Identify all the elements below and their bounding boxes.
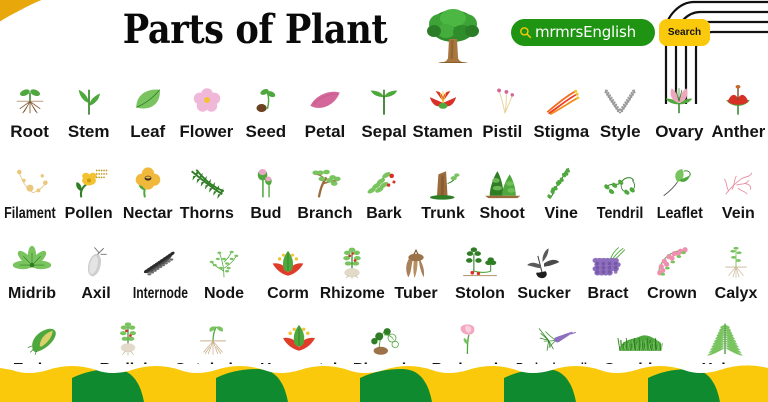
term-label: Pollen xyxy=(65,206,113,222)
trunk-illustration xyxy=(420,161,466,203)
term-label: Midrib xyxy=(8,286,56,302)
tendril-illustration xyxy=(597,161,643,203)
term-label: Leaf xyxy=(130,123,165,140)
petal-illustration xyxy=(303,80,347,120)
poster-header: Parts of Plant mrmrsEnglish Search xyxy=(0,0,768,64)
term-card-shoot[interactable]: Shoot xyxy=(473,161,532,222)
term-label: Filament xyxy=(4,206,55,222)
radicle-illustration xyxy=(104,317,152,359)
bud-scale-illustration xyxy=(445,317,493,359)
corm-illustration xyxy=(265,241,311,283)
term-card-corm[interactable]: Corm xyxy=(256,241,320,302)
stem-illustration xyxy=(67,80,111,120)
term-card-bud[interactable]: Bud xyxy=(236,161,295,222)
leaf-illustration xyxy=(126,80,170,120)
term-label: Stolon xyxy=(455,286,505,302)
seed-illustration xyxy=(244,80,288,120)
shoot-illustration xyxy=(479,161,525,203)
search-input-value: mrmrsEnglish xyxy=(535,25,636,40)
term-card-midrib[interactable]: Midrib xyxy=(0,241,64,302)
term-label: Flower xyxy=(180,123,234,140)
vein-illustration xyxy=(715,161,761,203)
term-card-vine[interactable]: Vine xyxy=(532,161,591,222)
term-label: Thorns xyxy=(180,206,234,222)
term-label: Ovary xyxy=(655,123,703,140)
leaflet-illustration xyxy=(656,161,702,203)
term-card-bark[interactable]: Bark xyxy=(354,161,413,222)
term-label: Tuber xyxy=(394,286,437,302)
term-card-stem[interactable]: Stem xyxy=(59,80,118,140)
term-card-leaf[interactable]: Leaf xyxy=(118,80,177,140)
branch-illustration xyxy=(302,161,348,203)
bract-illustration xyxy=(585,241,631,283)
term-label: Shoot xyxy=(479,206,524,222)
term-card-vein[interactable]: Vein xyxy=(709,161,768,222)
term-card-filament[interactable]: Filament xyxy=(0,161,59,222)
term-card-nectar[interactable]: Nectar xyxy=(118,161,177,222)
anther-illustration xyxy=(716,80,760,120)
cotyledon-illustration xyxy=(189,317,237,359)
term-card-anther[interactable]: Anther xyxy=(709,80,768,140)
tree-icon xyxy=(422,6,484,64)
term-label: Seed xyxy=(246,123,287,140)
stigma-illustration xyxy=(539,80,583,120)
term-label: Bark xyxy=(366,206,402,222)
term-card-flower[interactable]: Flower xyxy=(177,80,236,140)
rhizome-illustration xyxy=(329,241,375,283)
term-card-calyx[interactable]: Calyx xyxy=(704,241,768,302)
pistil-illustration xyxy=(480,80,524,120)
filament-illustration xyxy=(7,161,53,203)
axil-illustration xyxy=(73,241,119,283)
term-card-ovary[interactable]: Ovary xyxy=(650,80,709,140)
page-title: Parts of Plant xyxy=(110,2,400,58)
embryo-illustration xyxy=(19,317,67,359)
term-card-pistil[interactable]: Pistil xyxy=(473,80,532,140)
term-label: Axil xyxy=(81,286,110,302)
term-card-stamen[interactable]: Stamen xyxy=(414,80,473,140)
pollen-illustration xyxy=(66,161,112,203)
term-row-3: MidribAxilInternodeNodeCormRhizomeTuberS… xyxy=(0,234,768,302)
term-label: Corm xyxy=(267,286,309,302)
term-card-trunk[interactable]: Trunk xyxy=(414,161,473,222)
midrib-illustration xyxy=(9,241,55,283)
term-card-thorns[interactable]: Thorns xyxy=(177,161,236,222)
term-card-branch[interactable]: Branch xyxy=(295,161,354,222)
internode-illustration xyxy=(137,241,183,283)
term-label: Rhizome xyxy=(320,286,385,302)
node-illustration xyxy=(201,241,247,283)
nectar-illustration xyxy=(125,161,171,203)
term-label: Stamen xyxy=(413,123,473,140)
term-row-2: FilamentPollenNectarThornsBudBranchBarkT… xyxy=(0,154,768,222)
term-card-seed[interactable]: Seed xyxy=(236,80,295,140)
term-label: Nectar xyxy=(123,206,173,222)
stamen-illustration xyxy=(421,80,465,120)
term-label: Vine xyxy=(544,206,578,222)
term-label: Stem xyxy=(68,123,110,140)
term-row-1: RootStemLeafFlowerSeedPetalSepalStamenPi… xyxy=(0,74,768,140)
term-label: Sepal xyxy=(361,123,406,140)
term-card-rhizome[interactable]: Rhizome xyxy=(320,241,384,302)
term-card-node[interactable]: Node xyxy=(192,241,256,302)
cambium-illustration xyxy=(616,317,664,359)
term-label: Petal xyxy=(305,123,346,140)
ovary-illustration xyxy=(657,80,701,120)
search-button[interactable]: Search xyxy=(659,19,710,46)
term-card-axil[interactable]: Axil xyxy=(64,241,128,302)
tuber-illustration xyxy=(393,241,439,283)
stolon-illustration xyxy=(457,241,503,283)
term-card-stolon[interactable]: Stolon xyxy=(448,241,512,302)
term-label: Vein xyxy=(722,206,755,222)
term-label: Internode xyxy=(132,286,187,302)
bottom-wave-decoration xyxy=(0,364,768,402)
bark-illustration xyxy=(361,161,407,203)
term-label: Anther xyxy=(711,123,765,140)
search-input[interactable]: mrmrsEnglish xyxy=(511,19,655,46)
style-illustration xyxy=(598,80,642,120)
term-label: Stigma xyxy=(533,123,589,140)
term-label: Leaflet xyxy=(656,206,702,222)
crown-illustration xyxy=(649,241,695,283)
search-icon xyxy=(519,26,532,39)
term-card-internode[interactable]: Internode xyxy=(128,241,192,302)
term-label: Bud xyxy=(250,206,281,222)
term-label: Tendril xyxy=(597,206,644,222)
thorns-illustration xyxy=(184,161,230,203)
flower-illustration xyxy=(185,80,229,120)
term-label: Sucker xyxy=(517,286,570,302)
term-card-stigma[interactable]: Stigma xyxy=(532,80,591,140)
term-label: Bract xyxy=(588,286,629,302)
term-label: Crown xyxy=(647,286,697,302)
term-card-tendril[interactable]: Tendril xyxy=(591,161,650,222)
term-card-bract[interactable]: Bract xyxy=(576,241,640,302)
plumule-illustration xyxy=(360,317,408,359)
term-card-style[interactable]: Style xyxy=(591,80,650,140)
calyx-illustration xyxy=(713,241,759,283)
vine-illustration xyxy=(538,161,584,203)
sucker-illustration xyxy=(521,241,567,283)
term-label: Style xyxy=(600,123,641,140)
term-card-crown[interactable]: Crown xyxy=(640,241,704,302)
term-card-tuber[interactable]: Tuber xyxy=(384,241,448,302)
bud-illustration xyxy=(243,161,289,203)
term-label: Trunk xyxy=(421,206,465,222)
hypocotyl-illustration xyxy=(275,317,323,359)
sepal-illustration xyxy=(362,80,406,120)
term-label: Pistil xyxy=(482,123,522,140)
term-card-pollen[interactable]: Pollen xyxy=(59,161,118,222)
term-label: Root xyxy=(10,123,49,140)
term-card-root[interactable]: Root xyxy=(0,80,59,140)
term-label: Branch xyxy=(297,206,352,222)
poster-canvas: Parts of Plant mrmrsEnglish Search RootS… xyxy=(0,0,768,402)
term-label: Node xyxy=(204,286,244,302)
term-card-petal[interactable]: Petal xyxy=(295,80,354,140)
term-card-sepal[interactable]: Sepal xyxy=(354,80,413,140)
term-label: Calyx xyxy=(715,286,758,302)
bud-primordia-illustration xyxy=(531,317,579,359)
xylem-illustration xyxy=(701,317,749,359)
term-card-leaflet[interactable]: Leaflet xyxy=(650,161,709,222)
root-illustration xyxy=(8,80,52,120)
term-card-sucker[interactable]: Sucker xyxy=(512,241,576,302)
